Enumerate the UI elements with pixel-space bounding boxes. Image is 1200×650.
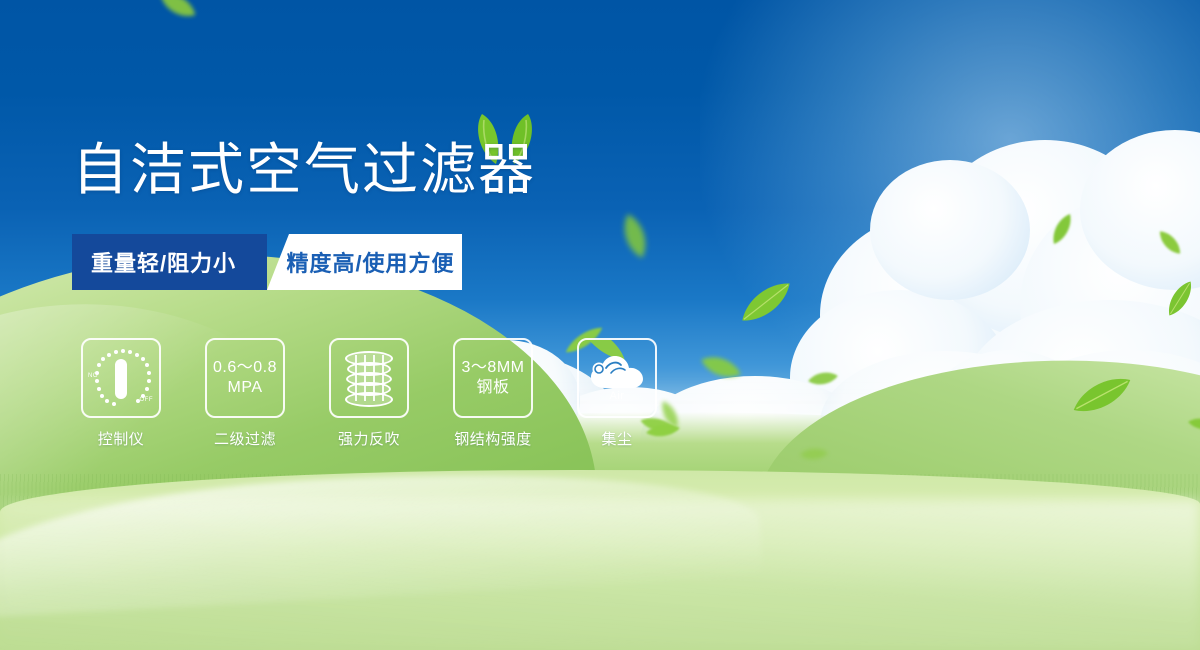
feature-label: 强力反吹 xyxy=(338,428,400,449)
product-banner: 自洁式空气过滤器 重量轻/阻力小 精度高/使用方便 NO OFF xyxy=(0,0,1200,650)
feature-item-secondary-filter[interactable]: 0.6～0.8 MPA 二级过滤 xyxy=(205,338,285,449)
feature-label: 钢结构强度 xyxy=(454,428,532,449)
feature-icon-box: 0.6～0.8 MPA xyxy=(205,338,285,418)
feature-item-dust-collection[interactable]: Air 集尘 xyxy=(577,338,657,449)
gauge-needle xyxy=(115,359,127,399)
coil-filter-icon xyxy=(342,349,396,407)
feature-label: 控制仪 xyxy=(98,428,145,449)
meadow-highlight xyxy=(0,500,1200,650)
feature-icon-box: NO OFF xyxy=(81,338,161,418)
badge-left-panel: 重量轻/阻力小 xyxy=(72,234,267,290)
subtitle-badge: 重量轻/阻力小 精度高/使用方便 xyxy=(72,234,462,290)
feature-icon-box: 3～8MM 钢板 xyxy=(453,338,533,418)
feature-item-steel-strength[interactable]: 3～8MM 钢板 钢结构强度 xyxy=(453,338,533,449)
cloud-air-icon: Air xyxy=(586,350,648,406)
gauge-icon: NO OFF xyxy=(90,349,152,407)
feature-label: 二级过滤 xyxy=(214,428,276,449)
feature-item-strong-backblow[interactable]: 强力反吹 xyxy=(329,338,409,449)
pressure-value-line1: 0.6～0.8 xyxy=(213,358,277,378)
feature-list: NO OFF xyxy=(81,338,657,449)
pressure-value-line2: MPA xyxy=(228,378,263,398)
feature-item-control-instrument[interactable]: NO OFF xyxy=(81,338,161,449)
badge-right-text: 精度高/使用方便 xyxy=(286,246,454,278)
air-label: Air xyxy=(610,390,625,402)
feature-icon-box xyxy=(329,338,409,418)
badge-left-text: 重量轻/阻力小 xyxy=(91,246,236,278)
feature-label: 集尘 xyxy=(601,428,632,449)
badge-right-panel: 精度高/使用方便 xyxy=(267,234,462,290)
steel-value-line1: 3～8MM xyxy=(462,358,525,378)
feature-icon-box: Air xyxy=(577,338,657,418)
page-title: 自洁式空气过滤器 xyxy=(72,142,536,198)
steel-value-line2: 钢板 xyxy=(476,378,509,398)
